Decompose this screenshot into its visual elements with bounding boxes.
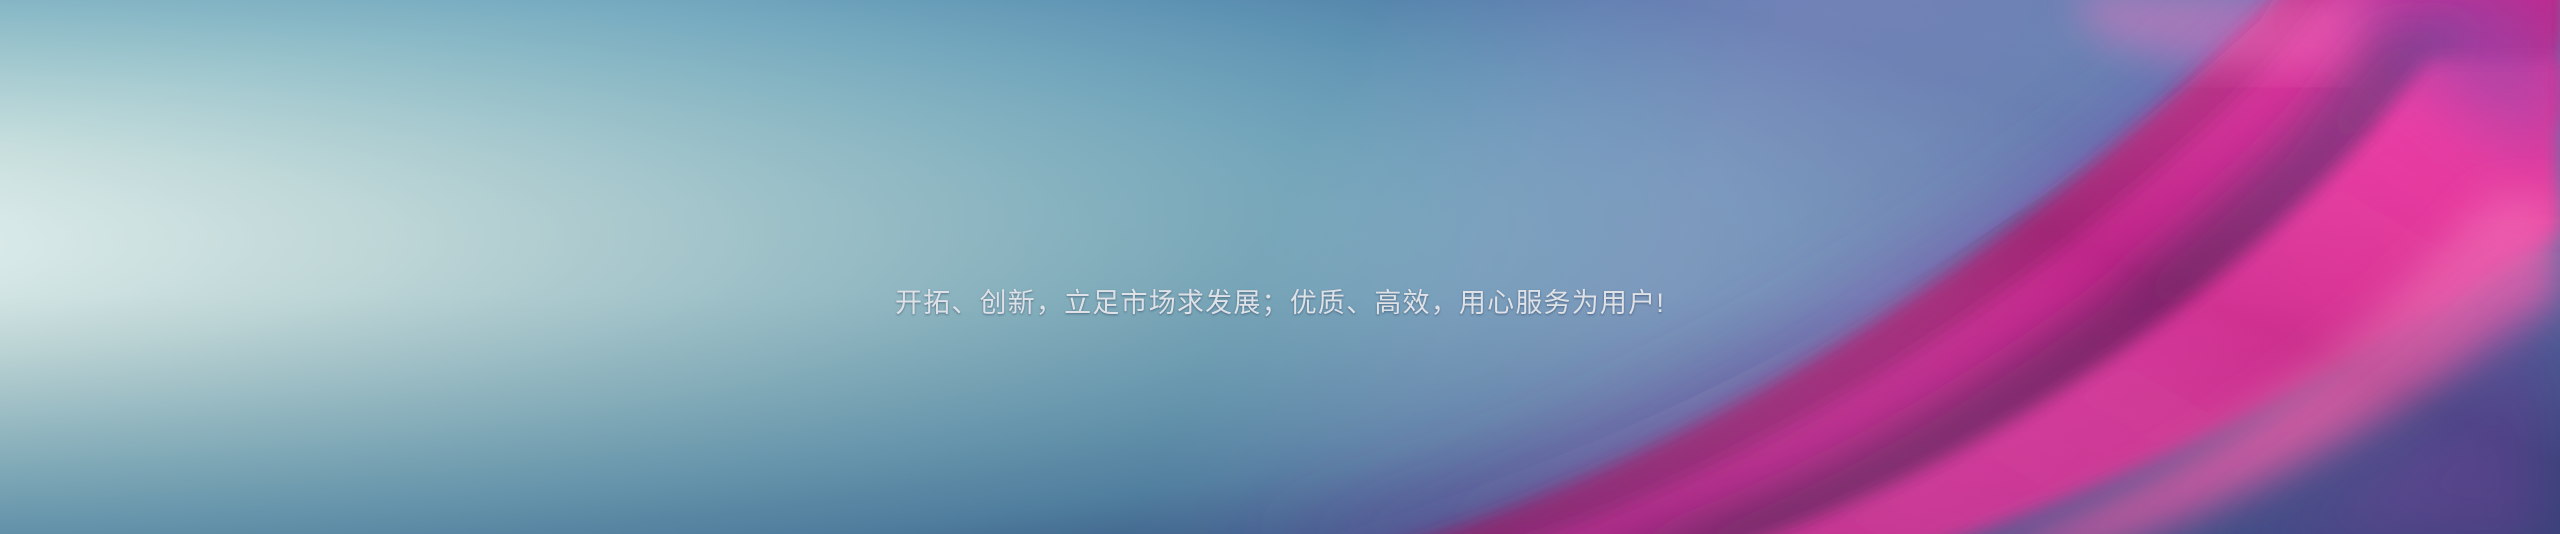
magenta-swoosh-graphic (0, 0, 2560, 534)
banner-tagline: 开拓、创新，立足市场求发展；优质、高效，用心服务为用户! (0, 286, 2560, 320)
ribbon-purple-halo (0, 0, 2560, 534)
hero-banner: 开拓、创新，立足市场求发展；优质、高效，用心服务为用户! (0, 0, 2560, 534)
